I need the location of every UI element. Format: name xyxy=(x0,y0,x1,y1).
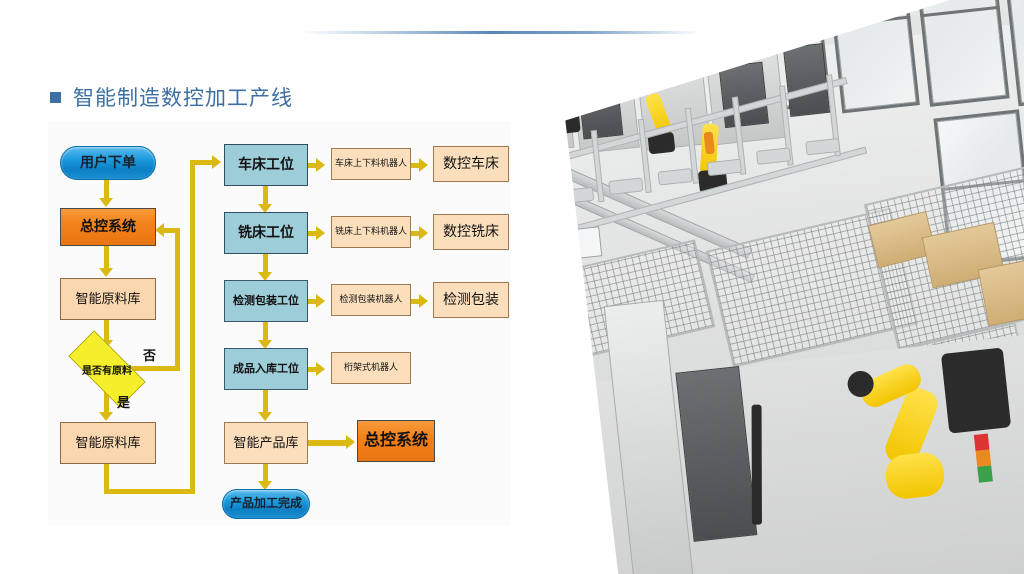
top-decorative-rule xyxy=(300,31,700,34)
edge-product-store-to-control xyxy=(308,440,350,446)
node-product-store[interactable]: 智能产品库 xyxy=(224,422,308,464)
arrowhead-no-to-control xyxy=(155,223,164,237)
node-station-inspect[interactable]: 检测包装工位 xyxy=(224,280,308,322)
photo-machine-dark-1 xyxy=(577,77,623,139)
node-robot-mill[interactable]: 铣床上下料机器人 xyxy=(331,216,411,248)
arrowhead-yes-to-material2 xyxy=(99,412,113,421)
node-robot-gantry-label: 桁架式机器人 xyxy=(344,363,398,373)
node-robot-lathe[interactable]: 车床上下料机器人 xyxy=(331,148,411,180)
photo-stacklight-green xyxy=(977,465,993,482)
arrowhead-warehouse-to-gantry xyxy=(316,362,325,376)
photo-robot-base-1 xyxy=(553,112,581,135)
node-station-lathe-label: 车床工位 xyxy=(238,157,294,172)
node-station-mill-label: 铣床工位 xyxy=(238,225,294,240)
photo-wall-sign xyxy=(526,226,603,264)
arrowhead-order-to-control xyxy=(99,198,113,207)
edge-no-return-horizontal xyxy=(164,228,180,233)
factory-photo xyxy=(520,0,1024,574)
node-control-system-1[interactable]: 总控系统 xyxy=(60,208,156,246)
node-cnc-lathe[interactable]: 数控车床 xyxy=(433,146,509,182)
arrowhead-lathe-to-robot xyxy=(316,158,325,172)
node-inspect-pack[interactable]: 检测包装 xyxy=(433,282,509,318)
photo-stacklight-upper-2 xyxy=(631,0,642,20)
photo-stacklight-amber xyxy=(976,449,992,466)
node-order[interactable]: 用户下单 xyxy=(60,146,156,180)
photo-pallet-3 xyxy=(658,168,693,186)
node-robot-inspect[interactable]: 检测包装机器人 xyxy=(331,284,411,316)
node-control-system-1-label: 总控系统 xyxy=(80,219,136,234)
arrowhead-control-to-material xyxy=(99,268,113,277)
edge-label-no: 否 xyxy=(143,345,156,364)
node-finish[interactable]: 产品加工完成 xyxy=(222,489,310,519)
edge-material-to-decision xyxy=(104,320,109,342)
arrowhead-robot-to-cnc-lathe xyxy=(419,158,428,172)
photo-pallet-2 xyxy=(608,177,643,195)
photo-foreground-robot-rack xyxy=(941,347,1011,433)
node-station-mill[interactable]: 铣床工位 xyxy=(224,212,308,254)
photo-machine-1 xyxy=(520,48,574,155)
photo-machine-dark-2 xyxy=(719,62,769,128)
page-title-text: 智能制造数控加工产线 xyxy=(73,82,293,112)
node-station-inspect-label: 检测包装工位 xyxy=(233,295,299,307)
node-station-warehouse-in[interactable]: 成品入库工位 xyxy=(224,348,308,390)
arrowhead-warehouse-to-product-store xyxy=(258,412,272,421)
factory-photo-inner xyxy=(520,0,1024,574)
photo-cable-bundle xyxy=(752,405,762,525)
photo-machine-dark-3 xyxy=(783,43,830,117)
node-cnc-lathe-label: 数控车床 xyxy=(443,156,499,171)
photo-mullion-1 xyxy=(753,25,823,36)
arrowhead-robot-to-cnc-mill xyxy=(419,226,428,240)
photo-cage-post-1 xyxy=(544,141,558,211)
edge-material2-to-station xyxy=(190,160,214,165)
node-robot-inspect-label: 检测包装机器人 xyxy=(339,295,402,305)
edge-material2-up xyxy=(190,160,195,494)
arrowhead-inspect-to-robot xyxy=(316,294,325,308)
arrowhead-to-lathe-station xyxy=(212,155,221,169)
node-material-store-1[interactable]: 智能原料库 xyxy=(60,278,156,320)
node-material-store-2[interactable]: 智能原料库 xyxy=(60,422,156,464)
edge-label-yes: 是 xyxy=(117,392,130,411)
arrowhead-mill-to-robot xyxy=(316,226,325,240)
node-control-system-2-label: 总控系统 xyxy=(364,432,428,450)
edge-no-vertical xyxy=(175,228,180,371)
node-station-warehouse-in-label: 成品入库工位 xyxy=(233,363,299,375)
node-material-store-1-label: 智能原料库 xyxy=(75,292,140,306)
node-robot-lathe-label: 车床上下料机器人 xyxy=(335,159,407,169)
node-material-store-2-label: 智能原料库 xyxy=(75,436,140,450)
node-control-system-2[interactable]: 总控系统 xyxy=(357,420,435,462)
node-cnc-mill[interactable]: 数控铣床 xyxy=(433,214,509,250)
edge-material2-right xyxy=(104,489,195,494)
node-robot-mill-label: 铣床上下料机器人 xyxy=(335,227,407,237)
photo-robot-arm-1 xyxy=(552,71,573,118)
edge-control-to-material xyxy=(104,246,109,270)
node-station-lathe[interactable]: 车床工位 xyxy=(224,144,308,186)
edge-order-to-control xyxy=(104,180,109,200)
node-robot-gantry[interactable]: 桁架式机器人 xyxy=(331,352,411,384)
photo-stacklight-red xyxy=(974,434,990,451)
node-product-store-label: 智能产品库 xyxy=(233,436,298,450)
arrowhead-robot-to-inspect-pack xyxy=(419,294,428,308)
node-inspect-pack-label: 检测包装 xyxy=(443,292,499,307)
arrowhead-product-store-to-control xyxy=(346,435,355,449)
node-finish-label: 产品加工完成 xyxy=(230,497,302,510)
photo-pallet-4 xyxy=(707,159,742,177)
page-title: 智能制造数控加工产线 xyxy=(50,82,293,112)
slide-canvas: 智能制造数控加工产线 用户下单 总控系统 智能原料库 是否有原料 否 是 智能原… xyxy=(0,0,1024,574)
node-cnc-mill-label: 数控铣床 xyxy=(443,224,499,239)
bullet-square-icon xyxy=(50,92,61,103)
node-order-label: 用户下单 xyxy=(80,155,136,170)
photo-pallet-5 xyxy=(756,147,791,165)
